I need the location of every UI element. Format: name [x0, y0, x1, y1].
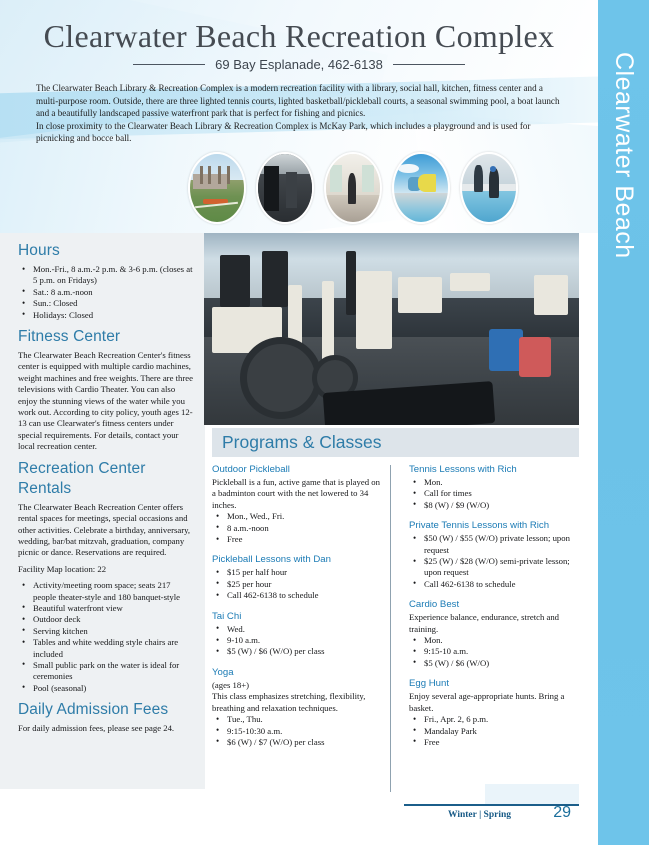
- daily-fees-heading: Daily Admission Fees: [18, 700, 194, 720]
- list-item: Mon.: [411, 477, 579, 488]
- program-details-list: Fri., Apr. 2, 6 p.m. Mandalay Park Free: [411, 714, 579, 748]
- fitness-center-body: The Clearwater Beach Recreation Center's…: [18, 350, 194, 453]
- list-item: $6 (W) / $7 (W/O) per class: [214, 737, 382, 748]
- water-park-photo: [392, 152, 450, 224]
- program-block: Outdoor Pickleball Pickleball is a fun, …: [212, 464, 382, 545]
- list-item: Activity/meeting room space; seats 217 p…: [20, 580, 194, 603]
- programs-columns: Outdoor Pickleball Pickleball is a fun, …: [212, 464, 579, 757]
- program-block: Egg Hunt Enjoy several age-appropriate h…: [409, 678, 579, 748]
- address-phone: 69 Bay Esplanade, 462-6138: [215, 57, 383, 72]
- list-item: Pool (seasonal): [20, 683, 194, 694]
- list-item: $25 per hour: [214, 579, 382, 590]
- intro-paragraph-2: In close proximity to the Clearwater Bea…: [36, 120, 562, 145]
- list-item: $25 (W) / $28 (W/O) semi-private lesson;…: [411, 556, 579, 579]
- list-item: Free: [411, 737, 579, 748]
- tennis-court-photo: [188, 152, 246, 224]
- program-details-list: Mon. Call for times $8 (W) / $9 (W/O): [411, 477, 579, 511]
- program-block: Tennis Lessons with Rich Mon. Call for t…: [409, 464, 579, 511]
- list-item: 9:15-10:30 a.m.: [214, 726, 382, 737]
- page-title: Clearwater Beach Recreation Complex: [0, 18, 598, 55]
- list-item: 8 a.m.-noon: [214, 523, 382, 534]
- list-item: Tue., Thu.: [214, 714, 382, 725]
- fitness-center-heading: Fitness Center: [18, 327, 194, 347]
- rentals-heading: Recreation Center Rentals: [18, 459, 194, 499]
- list-item: Mon.-Fri., 8 a.m.-2 p.m. & 3-6 p.m. (clo…: [20, 264, 194, 287]
- list-item: Mon., Wed., Fri.: [214, 511, 382, 522]
- programs-and-classes-section: Programs & Classes Outdoor Pickleball Pi…: [212, 428, 579, 757]
- fitness-center-interior-photo: [204, 233, 579, 425]
- list-item: Call for times: [411, 488, 579, 499]
- left-info-panel: Hours Mon.-Fri., 8 a.m.-2 p.m. & 3-6 p.m…: [0, 233, 205, 789]
- subtitle-row: 69 Bay Esplanade, 462-6138: [0, 57, 598, 72]
- rentals-body: The Clearwater Beach Recreation Center o…: [18, 502, 194, 559]
- programs-left-column: Outdoor Pickleball Pickleball is a fun, …: [212, 464, 382, 757]
- programs-right-column: Tennis Lessons with Rich Mon. Call for t…: [409, 464, 579, 757]
- program-block: Yoga (ages 18+) This class emphasizes st…: [212, 667, 382, 748]
- list-item: $5 (W) / $6 (W/O) per class: [214, 646, 382, 657]
- list-item: Mandalay Park: [411, 726, 579, 737]
- page-root: Clearwater Beach Recreation Complex 69 B…: [0, 0, 649, 845]
- list-item: Free: [214, 534, 382, 545]
- intro-paragraph-1: The Clearwater Beach Library & Recreatio…: [36, 82, 562, 120]
- program-block: Private Tennis Lessons with Rich $50 (W)…: [409, 520, 579, 590]
- daily-fees-body: For daily admission fees, please see pag…: [18, 723, 194, 734]
- program-description: (ages 18+) This class emphasizes stretch…: [212, 680, 382, 714]
- program-block: Cardio Best Experience balance, enduranc…: [409, 599, 579, 669]
- footer-page-number: 29: [0, 804, 579, 822]
- section-tab-clearwater-beach[interactable]: Clearwater Beach: [598, 0, 649, 845]
- list-item: Call 462-6138 to schedule: [214, 590, 382, 601]
- programs-column-divider: [390, 465, 391, 792]
- list-item: Sun.: Closed: [20, 298, 194, 309]
- list-item: $8 (W) / $9 (W/O): [411, 500, 579, 511]
- fitness-class-photo: [324, 152, 382, 224]
- program-title: Yoga: [212, 667, 382, 679]
- section-tab-label: Clearwater Beach: [609, 52, 638, 259]
- rule-left-icon: [133, 64, 205, 65]
- facility-map-location: Facility Map location: 22: [18, 564, 194, 575]
- program-details-list: Wed. 9-10 a.m. $5 (W) / $6 (W/O) per cla…: [214, 624, 382, 658]
- list-item: Holidays: Closed: [20, 310, 194, 321]
- program-title: Outdoor Pickleball: [212, 464, 382, 476]
- program-description: Enjoy several age-appropriate hunts. Bri…: [409, 691, 579, 714]
- program-details-list: Mon. 9:15-10 a.m. $5 (W) / $6 (W/O): [411, 635, 579, 669]
- program-title: Pickleball Lessons with Dan: [212, 554, 382, 566]
- fitness-equipment-photo: [256, 152, 314, 224]
- program-details-list: Mon., Wed., Fri. 8 a.m.-noon Free: [214, 511, 382, 545]
- swimming-pool-photo: [460, 152, 518, 224]
- program-title: Cardio Best: [409, 599, 579, 611]
- program-block: Pickleball Lessons with Dan $15 per half…: [212, 554, 382, 601]
- list-item: $50 (W) / $55 (W/O) private lesson; upon…: [411, 533, 579, 556]
- list-item: Outdoor deck: [20, 614, 194, 625]
- list-item: 9-10 a.m.: [214, 635, 382, 646]
- list-item: $15 per half hour: [214, 567, 382, 578]
- program-details-list: $15 per half hour $25 per hour Call 462-…: [214, 567, 382, 601]
- list-item: Wed.: [214, 624, 382, 635]
- list-item: Tables and white wedding style chairs ar…: [20, 637, 194, 660]
- rentals-list: Activity/meeting room space; seats 217 p…: [20, 580, 194, 694]
- list-item: Call 462-6138 to schedule: [411, 579, 579, 590]
- program-title: Egg Hunt: [409, 678, 579, 690]
- hours-list: Mon.-Fri., 8 a.m.-2 p.m. & 3-6 p.m. (clo…: [20, 264, 194, 321]
- intro-text: The Clearwater Beach Library & Recreatio…: [36, 82, 562, 145]
- program-block: Tai Chi Wed. 9-10 a.m. $5 (W) / $6 (W/O)…: [212, 611, 382, 658]
- program-details-list: $50 (W) / $55 (W/O) private lesson; upon…: [411, 533, 579, 590]
- list-item: $5 (W) / $6 (W/O): [411, 658, 579, 669]
- program-description: Experience balance, endurance, stretch a…: [409, 612, 579, 635]
- header-banner: Clearwater Beach Recreation Complex 69 B…: [0, 0, 598, 233]
- programs-heading-bar: Programs & Classes: [212, 428, 579, 457]
- program-title: Tennis Lessons with Rich: [409, 464, 579, 476]
- header-photo-strip: [188, 152, 518, 224]
- program-description: Pickleball is a fun, active game that is…: [212, 477, 382, 511]
- footer-tint-block: [485, 784, 579, 806]
- hours-heading: Hours: [18, 241, 194, 261]
- rule-right-icon: [393, 64, 465, 65]
- list-item: Mon.: [411, 635, 579, 646]
- programs-heading: Programs & Classes: [222, 432, 382, 453]
- list-item: Sat.: 8 a.m.-noon: [20, 287, 194, 298]
- list-item: Beautiful waterfront view: [20, 603, 194, 614]
- program-title: Tai Chi: [212, 611, 382, 623]
- program-details-list: Tue., Thu. 9:15-10:30 a.m. $6 (W) / $7 (…: [214, 714, 382, 748]
- list-item: Fri., Apr. 2, 6 p.m.: [411, 714, 579, 725]
- list-item: Serving kitchen: [20, 626, 194, 637]
- program-title: Private Tennis Lessons with Rich: [409, 520, 579, 532]
- list-item: Small public park on the water is ideal …: [20, 660, 194, 683]
- list-item: 9:15-10 a.m.: [411, 646, 579, 657]
